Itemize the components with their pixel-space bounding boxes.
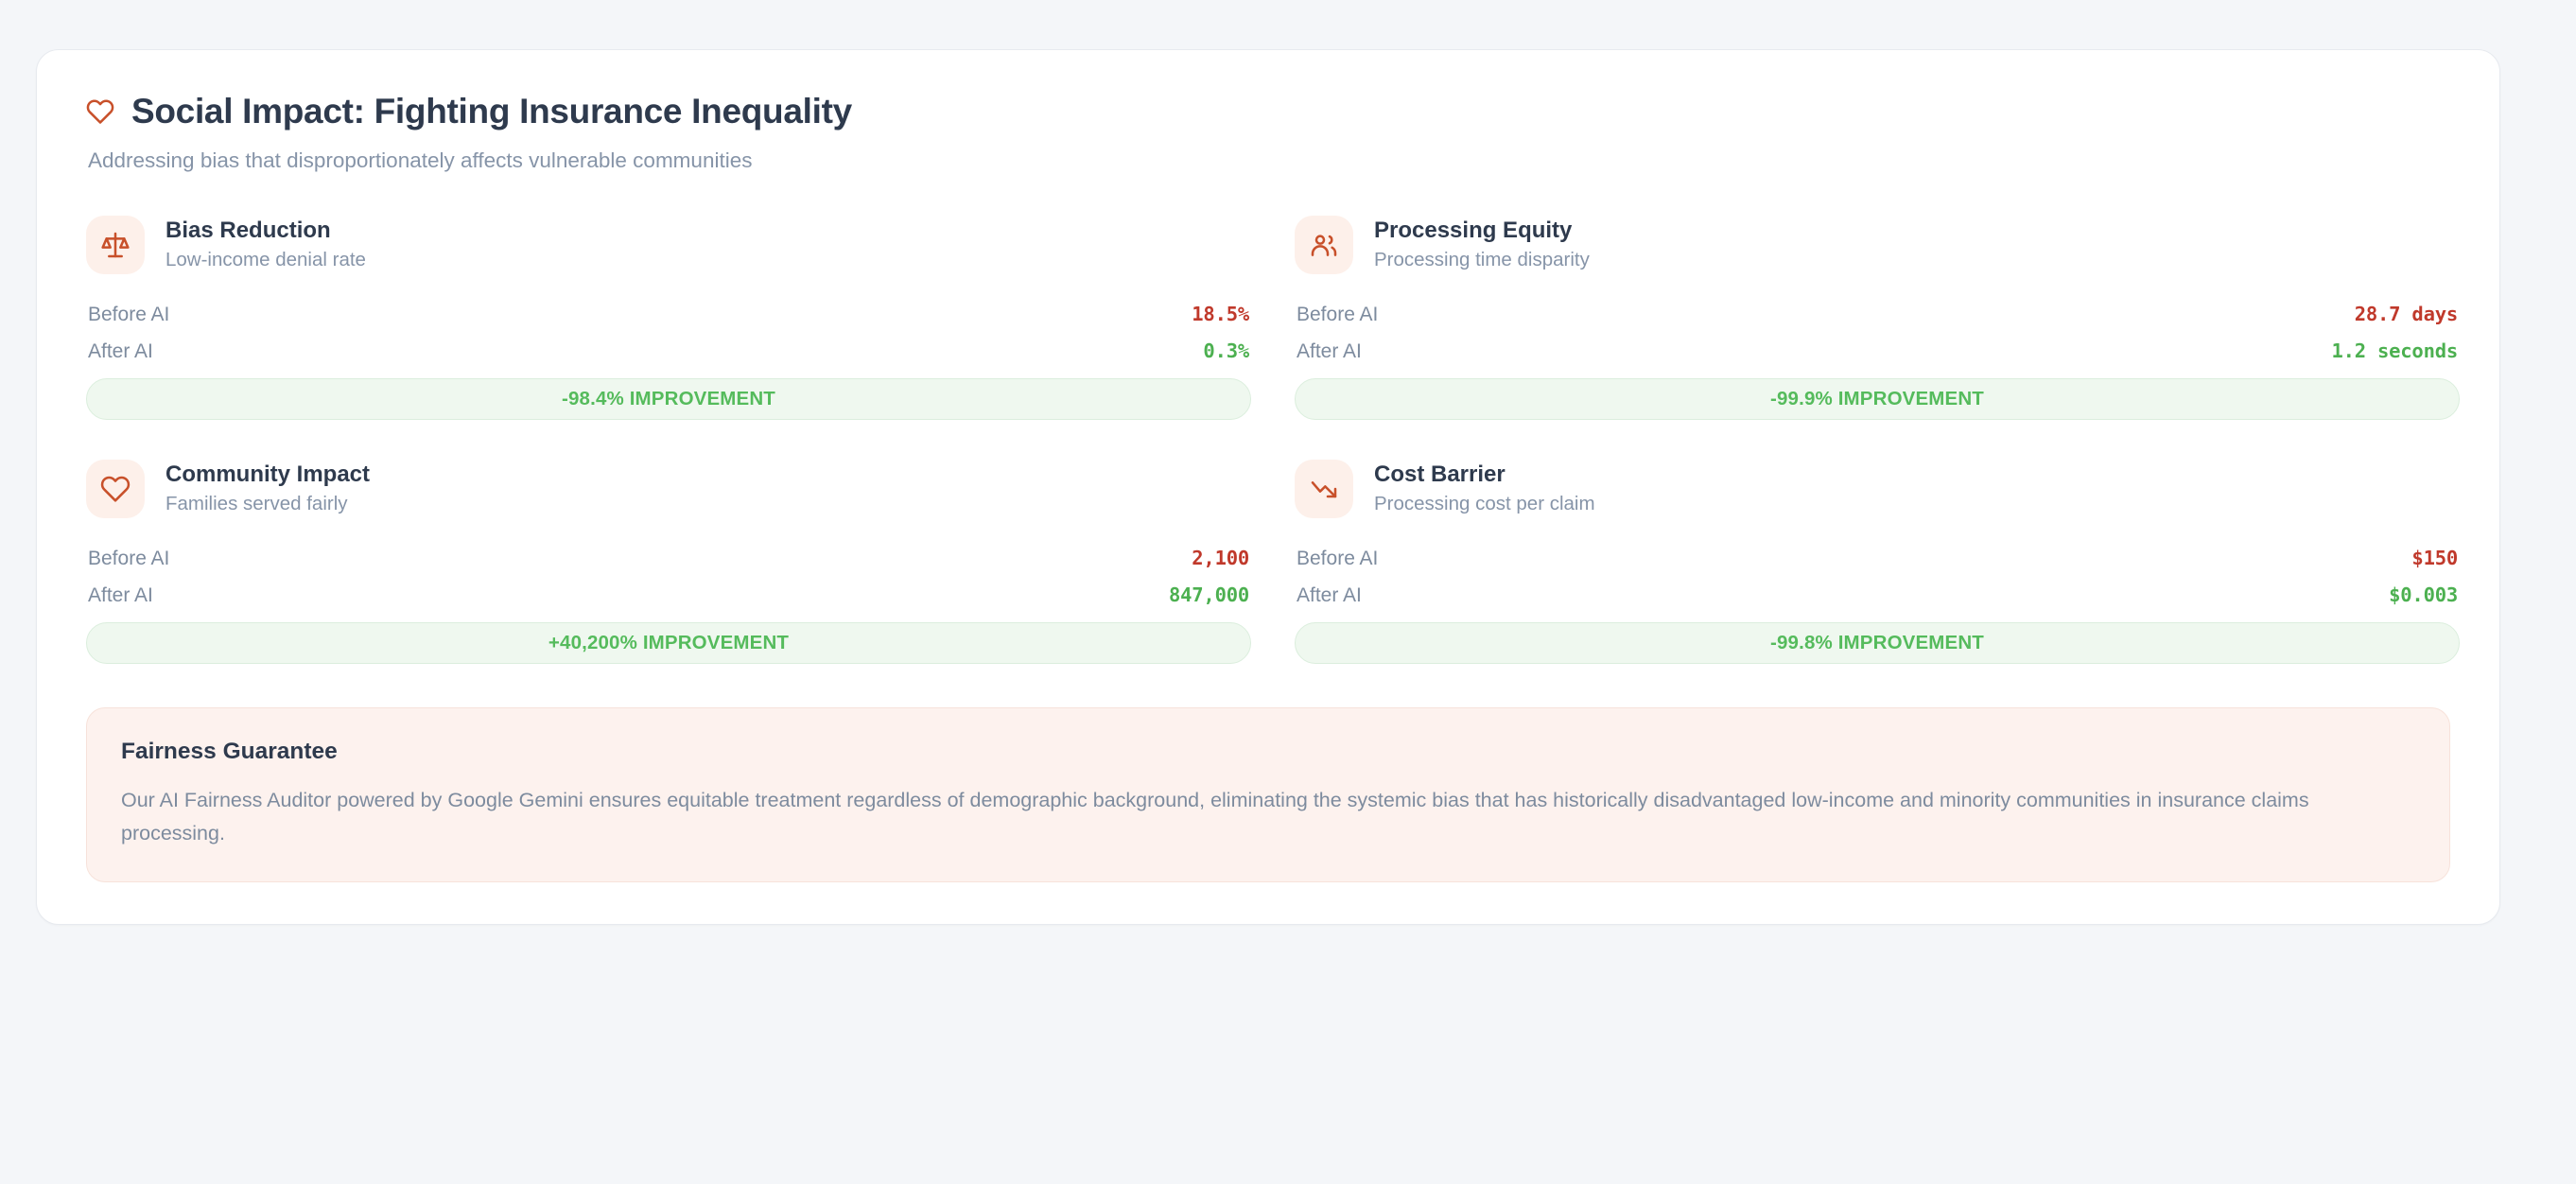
metric-row-before: Before AI $150 [1295,543,2460,574]
metric-description: Families served fairly [165,493,370,516]
metric-name: Cost Barrier [1374,461,1595,488]
metric-row-before: Before AI 28.7 days [1295,299,2460,330]
metric-before-label: Before AI [88,304,169,326]
title-row: Social Impact: Fighting Insurance Inequa… [86,92,2450,132]
improvement-label: +40,200% IMPROVEMENT [548,632,789,654]
fairness-guarantee-box: Fairness Guarantee Our AI Fairness Audit… [86,707,2450,883]
heart-icon [86,97,114,126]
metric-description: Low-income denial rate [165,249,366,272]
metric-name: Bias Reduction [165,218,366,244]
metric-header: Bias Reduction Low-income denial rate [86,216,1251,274]
social-impact-panel: Social Impact: Fighting Insurance Inequa… [36,49,2500,925]
panel-header: Social Impact: Fighting Insurance Inequa… [86,92,2450,174]
metric-card-bias-reduction: Bias Reduction Low-income denial rate Be… [86,216,1251,420]
metric-before-label: Before AI [1297,304,1378,326]
metric-row-before: Before AI 18.5% [86,299,1251,330]
metric-card-community-impact: Community Impact Families served fairly … [86,460,1251,664]
page-root: Social Impact: Fighting Insurance Inequa… [0,0,2576,1184]
improvement-label: -99.8% IMPROVEMENT [1770,632,1984,654]
metric-titles: Bias Reduction Low-income denial rate [165,218,366,271]
metric-after-value: 0.3% [1203,340,1249,362]
metric-row-before: Before AI 2,100 [86,543,1251,574]
metric-after-label: After AI [88,584,153,607]
metric-description: Processing cost per claim [1374,493,1595,516]
improvement-badge: +40,200% IMPROVEMENT [86,622,1251,664]
improvement-label: -98.4% IMPROVEMENT [562,388,775,410]
metric-header: Cost Barrier Processing cost per claim [1295,460,2460,518]
page-title: Social Impact: Fighting Insurance Inequa… [131,92,852,132]
metric-name: Processing Equity [1374,218,1590,244]
heart-icon [86,460,145,518]
metric-titles: Cost Barrier Processing cost per claim [1374,461,1595,515]
metric-row-after: After AI 1.2 seconds [1295,336,2460,367]
metric-after-value: 847,000 [1169,583,1249,606]
metric-before-label: Before AI [1297,548,1378,570]
users-people-icon [1295,216,1353,274]
metric-row-after: After AI 0.3% [86,336,1251,367]
metric-card-cost-barrier: Cost Barrier Processing cost per claim B… [1295,460,2460,664]
improvement-badge: -98.4% IMPROVEMENT [86,378,1251,420]
page-subtitle: Addressing bias that disproportionately … [88,147,2450,174]
metric-name: Community Impact [165,461,370,488]
improvement-label: -99.9% IMPROVEMENT [1770,388,1984,410]
metric-card-processing-equity: Processing Equity Processing time dispar… [1295,216,2460,420]
metrics-grid: Bias Reduction Low-income denial rate Be… [86,216,2450,664]
metric-after-value: $0.003 [2389,583,2458,606]
improvement-badge: -99.9% IMPROVEMENT [1295,378,2460,420]
metric-before-value: 18.5% [1192,303,1249,325]
fairness-guarantee-body: Our AI Fairness Auditor powered by Googl… [121,784,2410,850]
metric-titles: Processing Equity Processing time dispar… [1374,218,1590,271]
improvement-badge: -99.8% IMPROVEMENT [1295,622,2460,664]
metric-row-after: After AI 847,000 [86,580,1251,611]
fairness-guarantee-title: Fairness Guarantee [121,739,2415,765]
metric-after-label: After AI [1297,584,1362,607]
scales-balance-icon [86,216,145,274]
metric-after-value: 1.2 seconds [2331,340,2458,362]
metric-after-label: After AI [88,340,153,363]
metric-row-after: After AI $0.003 [1295,580,2460,611]
trending-down-icon [1295,460,1353,518]
metric-before-value: $150 [2411,547,2458,569]
metric-before-value: 2,100 [1192,547,1249,569]
metric-description: Processing time disparity [1374,249,1590,272]
metric-after-label: After AI [1297,340,1362,363]
metric-before-label: Before AI [88,548,169,570]
metric-before-value: 28.7 days [2355,303,2458,325]
metric-header: Processing Equity Processing time dispar… [1295,216,2460,274]
metric-header: Community Impact Families served fairly [86,460,1251,518]
metric-titles: Community Impact Families served fairly [165,461,370,515]
